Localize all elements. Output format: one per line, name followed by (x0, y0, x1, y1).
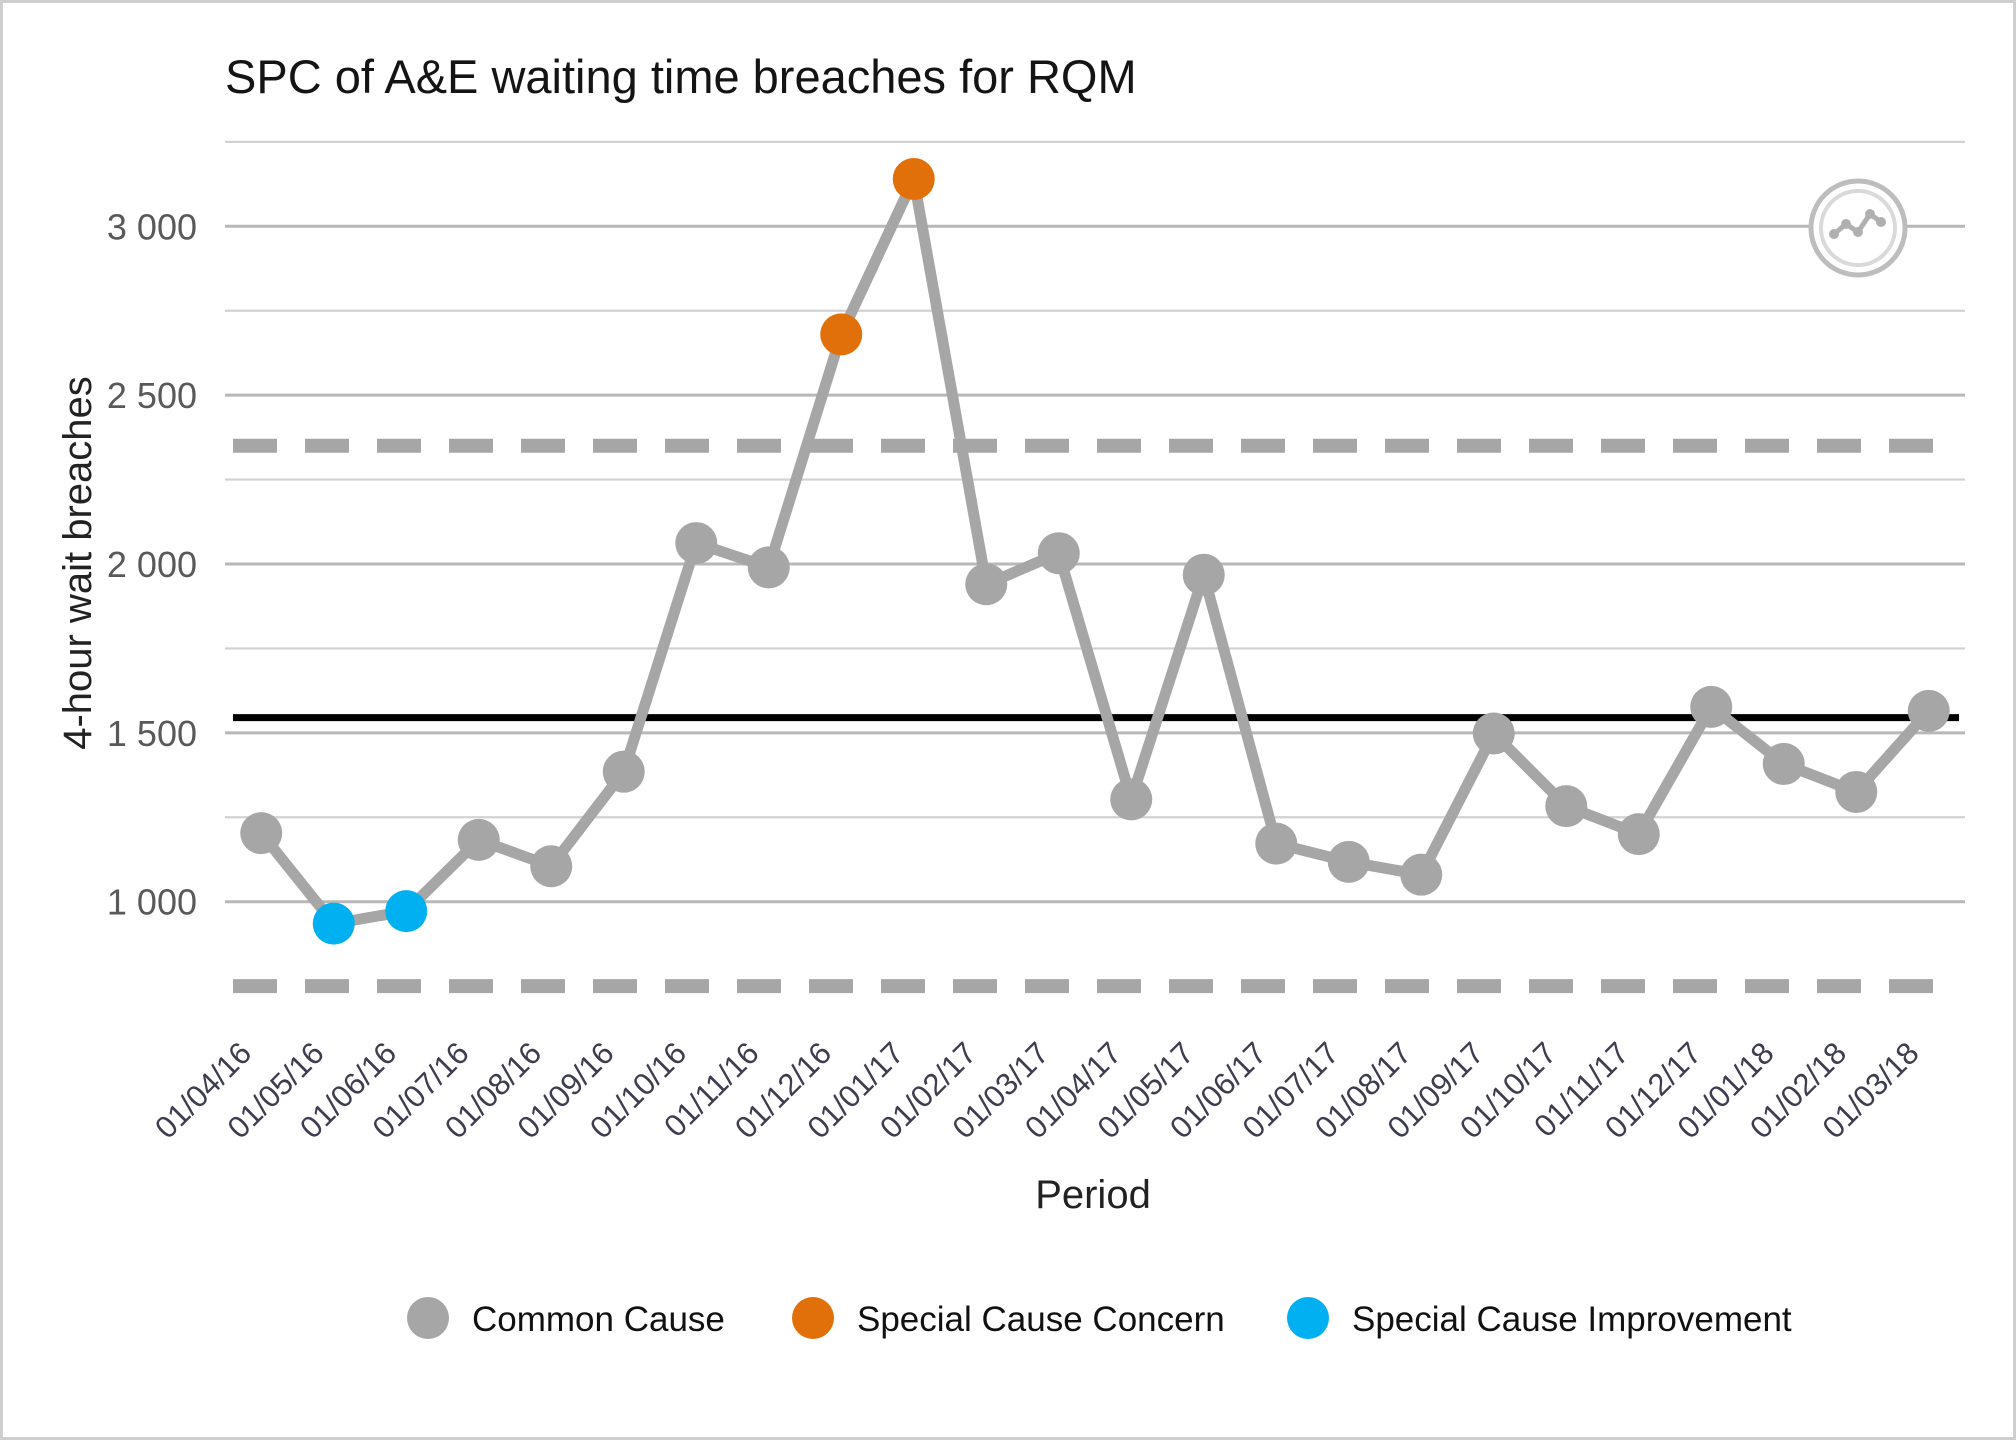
data-point-common[interactable]: 01/10/17: 1283 (1545, 785, 1587, 827)
legend-item-label: Special Cause Concern (857, 1300, 1225, 1339)
chart-page: SPC of A&E waiting time breaches for RQM… (0, 0, 2016, 1440)
y-axis-tick-label: 2 000 (107, 544, 197, 585)
data-point-common[interactable]: 01/06/17: 1172 (1255, 823, 1297, 865)
data-point-common[interactable]: 01/02/18: 1325 (1835, 771, 1877, 813)
data-point-common[interactable]: 01/05/17: 1968 (1183, 554, 1225, 596)
data-point-common[interactable]: 01/11/16: 1990 (748, 546, 790, 588)
legend-marker-icon (1287, 1297, 1329, 1339)
chart-legend: Common CauseSpecial Cause ConcernSpecial… (407, 1297, 1792, 1339)
data-point-common[interactable]: 01/10/16: 2062 (675, 522, 717, 564)
data-point-common[interactable]: 01/04/17: 1303 (1110, 778, 1152, 820)
legend-item-improvement[interactable]: Special Cause Improvement (1287, 1297, 1792, 1339)
data-point-concern[interactable]: 01/01/17: 3140 (893, 158, 935, 200)
legend-item-concern[interactable]: Special Cause Concern (792, 1297, 1225, 1339)
data-point-common[interactable]: 01/02/17: 1940 (965, 563, 1007, 605)
y-axis-title: 4-hour wait breaches (56, 376, 100, 750)
data-point-common[interactable]: 01/09/17: 1498 (1473, 713, 1515, 755)
y-axis-tick-label: 1 500 (107, 713, 197, 754)
page-title: SPC of A&E waiting time breaches for RQM (225, 50, 1137, 103)
data-point-concern[interactable]: 01/12/16: 2680 (820, 313, 862, 355)
legend-marker-icon (792, 1297, 834, 1339)
spc-sparkline-icon (1811, 181, 1905, 275)
data-point-common[interactable]: 01/07/17: 1118 (1328, 841, 1370, 883)
data-point-common[interactable]: 01/07/16: 1183 (458, 819, 500, 861)
y-axis-tick-label: 2 500 (107, 375, 197, 416)
data-point-common[interactable]: 01/08/16: 1105 (530, 845, 572, 887)
data-point-improvement[interactable]: 01/06/16: 972 (385, 890, 427, 932)
legend-item-label: Common Cause (472, 1300, 725, 1339)
legend-item-label: Special Cause Improvement (1352, 1300, 1792, 1339)
y-axis-tick-label: 3 000 (107, 206, 197, 247)
data-point-common[interactable]: 01/09/16: 1385 (603, 751, 645, 793)
data-point-improvement[interactable]: 01/05/16: 935 (313, 903, 355, 945)
data-point-common[interactable]: 01/01/18: 1408 (1763, 743, 1805, 785)
spc-chart: SPC of A&E waiting time breaches for RQM… (3, 3, 2013, 1437)
data-point-common[interactable]: 01/11/17: 1200 (1618, 813, 1660, 855)
data-point-common[interactable]: 01/04/16: 1203 (240, 812, 282, 854)
legend-marker-icon (407, 1297, 449, 1339)
x-axis-title: Period (1035, 1173, 1151, 1217)
data-point-common[interactable]: 01/03/18: 1565 (1908, 690, 1950, 732)
data-point-common[interactable]: 01/03/17: 2032 (1038, 532, 1080, 574)
data-point-common[interactable]: 01/12/17: 1577 (1690, 686, 1732, 728)
data-point-common[interactable]: 01/08/17: 1080 (1400, 854, 1442, 896)
y-axis-tick-label: 1 000 (107, 882, 197, 923)
